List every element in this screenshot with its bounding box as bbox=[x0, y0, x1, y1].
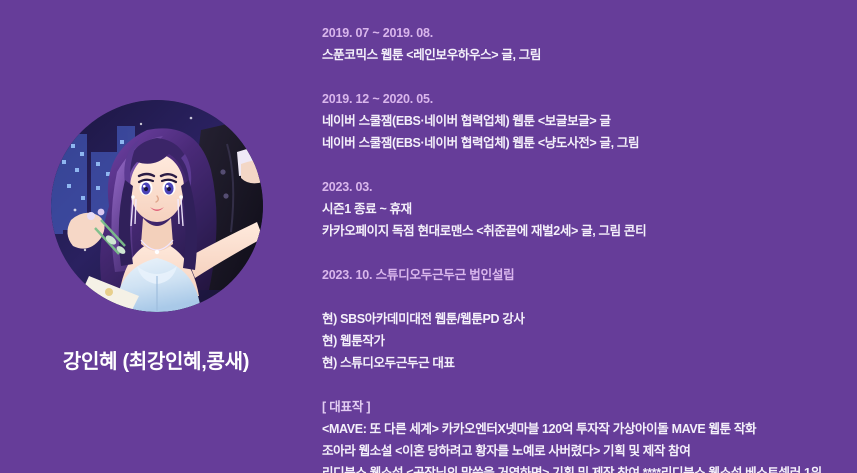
career-detail: 네이버 스쿨잼(EBS·네이버 협력업체) 웹툰 <보글보글> 글 bbox=[322, 110, 847, 132]
avatar-illustration-icon bbox=[51, 100, 263, 312]
representative-works-heading: [ 대표작 ] bbox=[322, 396, 847, 418]
career-date: 2019. 12 ~ 2020. 05. bbox=[322, 88, 847, 110]
avatar bbox=[51, 100, 263, 312]
representative-work: 리디북스 웹소설 <공작님의 말씀을 거역하면> 기획 및 제작 참여 ****… bbox=[322, 462, 847, 473]
representative-work: <MAVE: 또 다른 세계> 카카오엔터X넷마블 120억 투자작 가상아이돌… bbox=[322, 418, 847, 440]
career-block: 2023. 10. 스튜디오두근두근 법인설립 bbox=[322, 264, 847, 286]
current-position: 현) 스튜디오두근두근 대표 bbox=[322, 352, 847, 374]
current-position: 현) 웹툰작가 bbox=[322, 330, 847, 352]
career-block: 2019. 07 ~ 2019. 08. 스푼코믹스 웹툰 <레인보우하우스> … bbox=[322, 22, 847, 66]
representative-works-block: [ 대표작 ] <MAVE: 또 다른 세계> 카카오엔터X넷마블 120억 투… bbox=[322, 396, 847, 473]
career-detail: 스푼코믹스 웹툰 <레인보우하우스> 글, 그림 bbox=[322, 44, 847, 66]
career-date: 2019. 07 ~ 2019. 08. bbox=[322, 22, 847, 44]
profile-name: 강인혜 (최강인혜,콩새) bbox=[0, 348, 312, 376]
current-position: 현) SBS아카데미대전 웹툰/웹툰PD 강사 bbox=[322, 308, 847, 330]
career-date: 2023. 03. bbox=[322, 176, 847, 198]
career-detail: 시즌1 종료 ~ 휴재 bbox=[322, 198, 847, 220]
career-date: 2023. 10. 스튜디오두근두근 법인설립 bbox=[322, 264, 847, 286]
representative-work: 조아라 웹소설 <이혼 당하려고 황자를 노예로 사버렸다> 기획 및 제작 참… bbox=[322, 440, 847, 462]
profile-column: 강인혜 (최강인혜,콩새) bbox=[0, 0, 312, 473]
profile-card: 강인혜 (최강인혜,콩새) 2019. 07 ~ 2019. 08. 스푼코믹스… bbox=[0, 0, 857, 473]
career-content: 2019. 07 ~ 2019. 08. 스푼코믹스 웹툰 <레인보우하우스> … bbox=[312, 0, 857, 473]
career-block: 2019. 12 ~ 2020. 05. 네이버 스쿨잼(EBS·네이버 협력업… bbox=[322, 88, 847, 154]
career-detail: 네이버 스쿨잼(EBS·네이버 협력업체) 웹툰 <냥도사전> 글, 그림 bbox=[322, 132, 847, 154]
current-positions-block: 현) SBS아카데미대전 웹툰/웹툰PD 강사 현) 웹툰작가 현) 스튜디오두… bbox=[322, 308, 847, 374]
career-detail: 카카오페이지 독점 현대로맨스 <취준끝에 재벌2세> 글, 그림 콘티 bbox=[322, 220, 847, 242]
career-block: 2023. 03. 시즌1 종료 ~ 휴재 카카오페이지 독점 현대로맨스 <취… bbox=[322, 176, 847, 242]
